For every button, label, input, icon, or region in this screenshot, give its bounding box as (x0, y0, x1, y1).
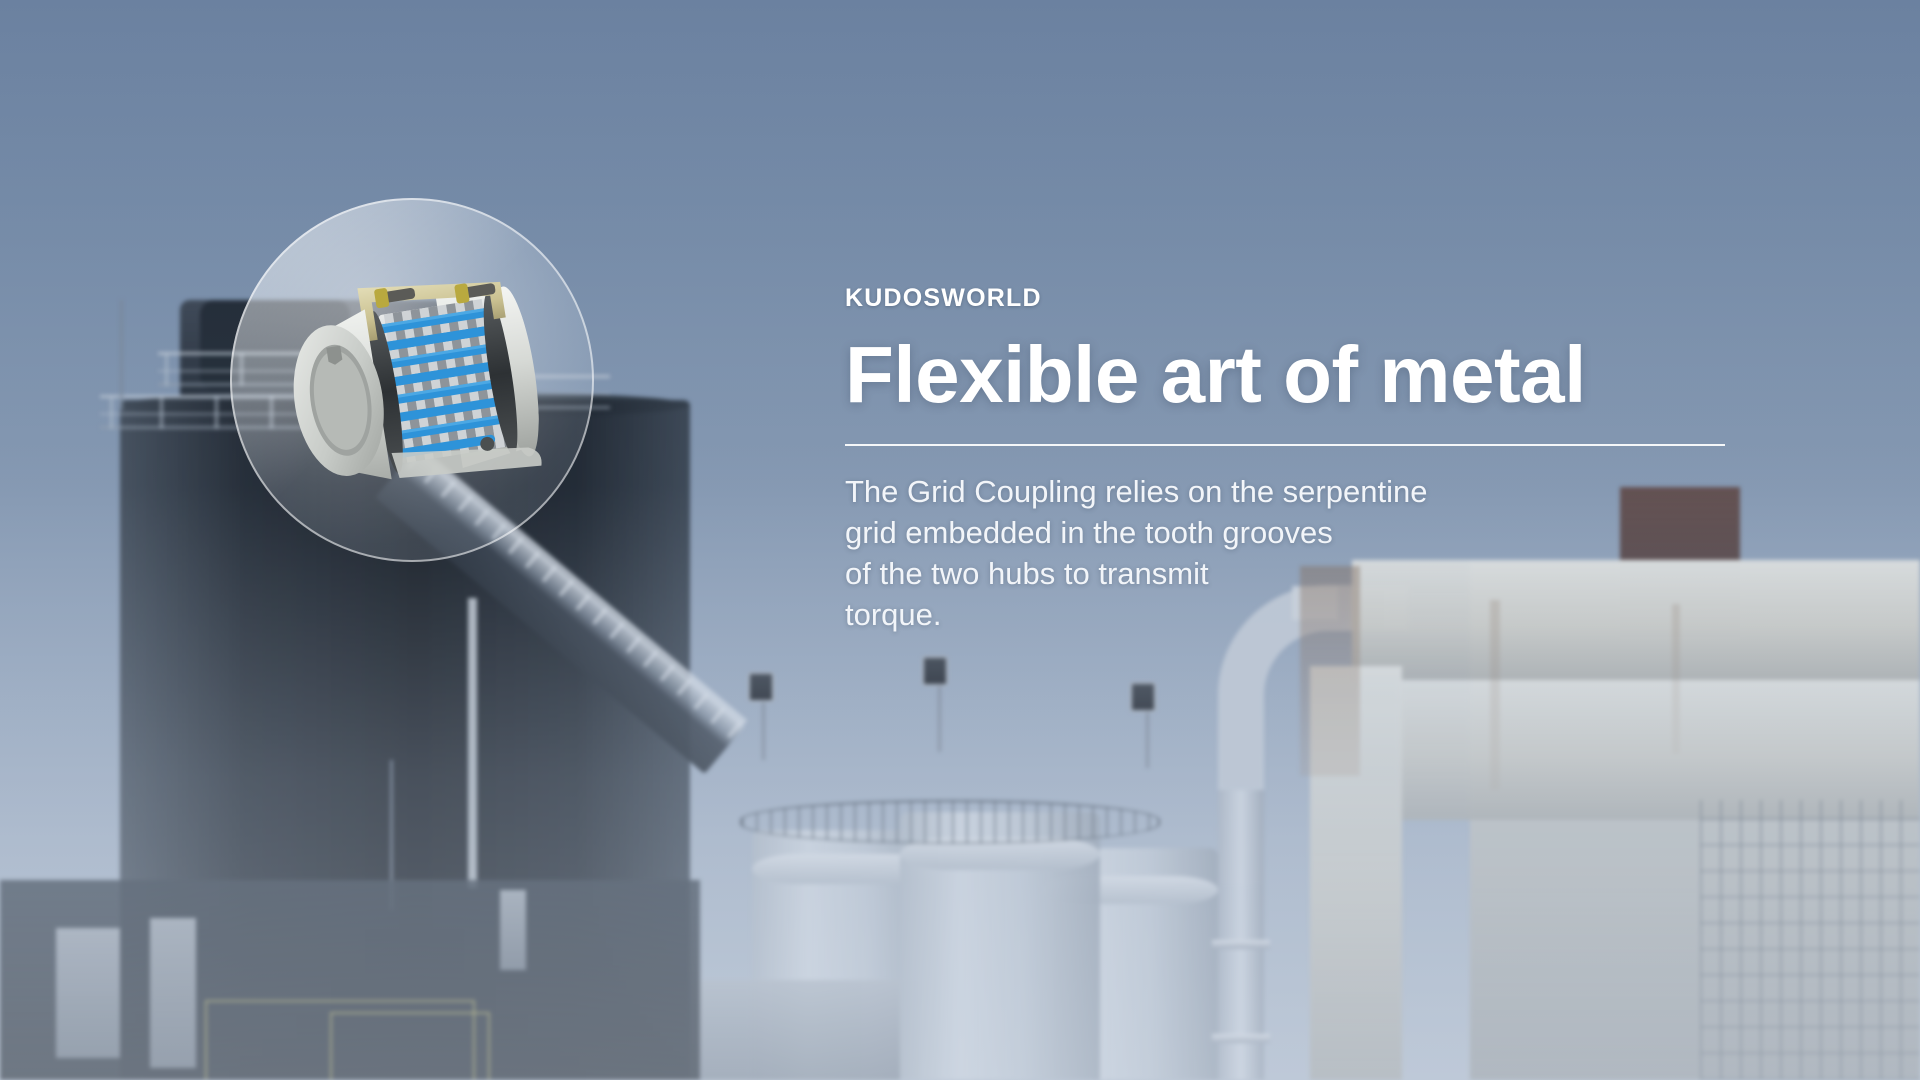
hero-description-line: torque. (845, 595, 1735, 636)
machinery-cabinet (500, 890, 526, 970)
floodlight-mast (762, 700, 765, 760)
tank-base-wall (690, 980, 920, 1080)
hero-description-line: of the two hubs to transmit (845, 554, 1735, 595)
floodlight-mast (938, 686, 941, 752)
product-image-circle (230, 198, 594, 562)
duct-horizontal-box (1400, 680, 1920, 820)
railing-post (165, 352, 168, 386)
antenna-pole (120, 300, 123, 410)
hero-description: The Grid Coupling relies on the serpenti… (845, 472, 1735, 636)
floodlight (922, 656, 948, 686)
duct-flange-ring (1212, 940, 1270, 949)
tank-platform-railing (740, 800, 1160, 844)
floodlight-mast (1146, 710, 1149, 768)
grid-coupling-illustration (280, 246, 580, 506)
railing-post (160, 395, 163, 429)
hero-text-block: KUDOSWORLD Flexible art of metal The Gri… (845, 286, 1735, 635)
hero-description-line: grid embedded in the tooth grooves (845, 513, 1735, 554)
antenna-pole (468, 598, 477, 888)
floodlight (748, 672, 774, 702)
duct-flange-ring (1212, 1034, 1270, 1043)
hero-banner: KUDOSWORLD Flexible art of metal The Gri… (0, 0, 1920, 1080)
page-title: Flexible art of metal (845, 333, 1735, 418)
title-divider (845, 444, 1725, 446)
railing-post (110, 395, 113, 429)
floodlight (1130, 682, 1156, 712)
steel-lattice-framework (1700, 800, 1920, 1080)
machinery-cabinet (150, 918, 196, 1068)
railing-post (215, 395, 218, 429)
machinery-cabinet (56, 928, 120, 1058)
brand-eyebrow: KUDOSWORLD (845, 286, 1735, 311)
hero-description-line: The Grid Coupling relies on the serpenti… (845, 472, 1735, 513)
yellow-safety-railing (330, 1012, 490, 1080)
